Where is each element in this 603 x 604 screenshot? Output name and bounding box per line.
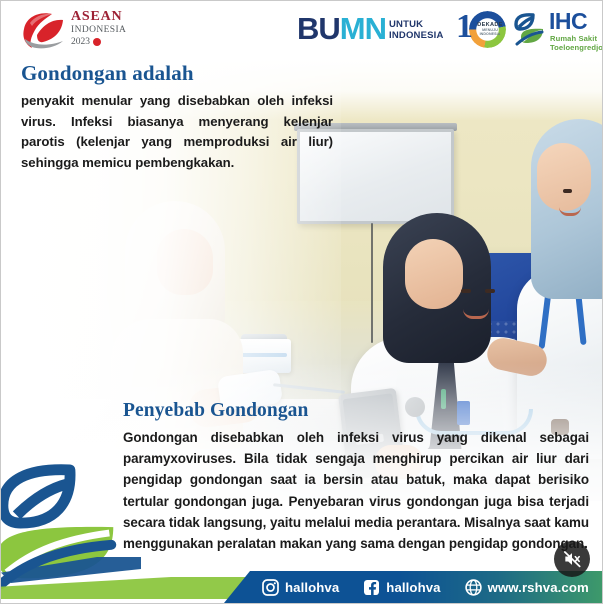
bumn-logo: BU MN UNTUK INDONESIA <box>297 11 444 45</box>
dekade-wordmark: DEKADE MENUJU INDONESIA <box>475 22 505 36</box>
doctor-face <box>405 239 463 309</box>
ihc-sub-line-1: Rumah Sakit <box>550 34 603 43</box>
doctor-eye-left <box>461 289 471 293</box>
facebook-icon <box>363 579 380 596</box>
footer-facebook[interactable]: hallohva <box>363 579 440 596</box>
footer-instagram[interactable]: hallohva <box>262 579 339 596</box>
footer-website[interactable]: www.rshva.com <box>465 579 589 596</box>
dekade-numeral: 1 <box>456 10 473 44</box>
asean-year: 2023 <box>71 36 90 48</box>
section-causes-heading: Penyebab Gondongan <box>123 399 589 423</box>
footer-website-label: www.rshva.com <box>488 580 589 595</box>
bumn-word-first: BU <box>297 13 340 44</box>
asean-emblem-icon <box>19 9 67 51</box>
instagram-icon <box>262 579 279 596</box>
section-causes-body: Gondongan disebabkan oleh infeksi virus … <box>123 427 589 554</box>
nurse-face <box>537 143 591 211</box>
ihc-leaf-icon <box>513 12 547 46</box>
bumn-tagline-line-1: UNTUK <box>389 19 444 30</box>
asean-line-2: INDONESIA <box>71 24 126 36</box>
section-definition: Gondongan adalah penyakit menular yang d… <box>21 61 333 173</box>
ihc-logo: IHC Rumah Sakit Toeloengredjo <box>513 9 595 51</box>
section-definition-body: penyakit menular yang disebabkan oleh in… <box>21 91 333 173</box>
ihc-sub-line-2: Toeloengredjo <box>550 43 603 52</box>
dekade-logo: 1 DEKADE MENUJU INDONESIA <box>453 9 509 51</box>
doctor-eye-right <box>485 289 495 293</box>
asean-wordmark: ASEAN INDONESIA 2023 <box>71 10 126 48</box>
section-causes: Penyebab Gondongan Gondongan disebabkan … <box>123 399 589 554</box>
asean-line-3: 2023 <box>71 36 126 48</box>
section-definition-heading: Gondongan adalah <box>21 61 333 86</box>
bumn-tagline-line-2: INDONESIA <box>389 30 444 41</box>
footer: hallohva hallohva <box>1 571 603 603</box>
dekade-line-3: INDONESIA <box>475 32 505 36</box>
bumn-word-second: MN <box>340 13 386 44</box>
mute-toggle-button[interactable] <box>554 541 590 577</box>
globe-icon <box>465 579 482 596</box>
nurse-eye <box>563 189 572 193</box>
infographic-poster: ASEAN INDONESIA 2023 BU MN UNTUK INDONES… <box>0 0 603 604</box>
muted-speaker-icon <box>562 549 582 569</box>
asean-logo: ASEAN INDONESIA 2023 <box>19 8 141 52</box>
footer-instagram-label: hallohva <box>285 580 339 595</box>
logo-header: ASEAN INDONESIA 2023 BU MN UNTUK INDONES… <box>1 1 603 57</box>
footer-contact-list: hallohva hallohva <box>224 571 603 603</box>
ihc-hospital-name: Rumah Sakit Toeloengredjo <box>550 34 603 52</box>
bumn-tagline: UNTUK INDONESIA <box>389 15 444 41</box>
footer-facebook-label: hallohva <box>386 580 440 595</box>
indonesia-flag-dot-icon <box>93 38 101 46</box>
asean-line-1: ASEAN <box>71 10 126 24</box>
ihc-wordmark: IHC <box>549 10 587 33</box>
